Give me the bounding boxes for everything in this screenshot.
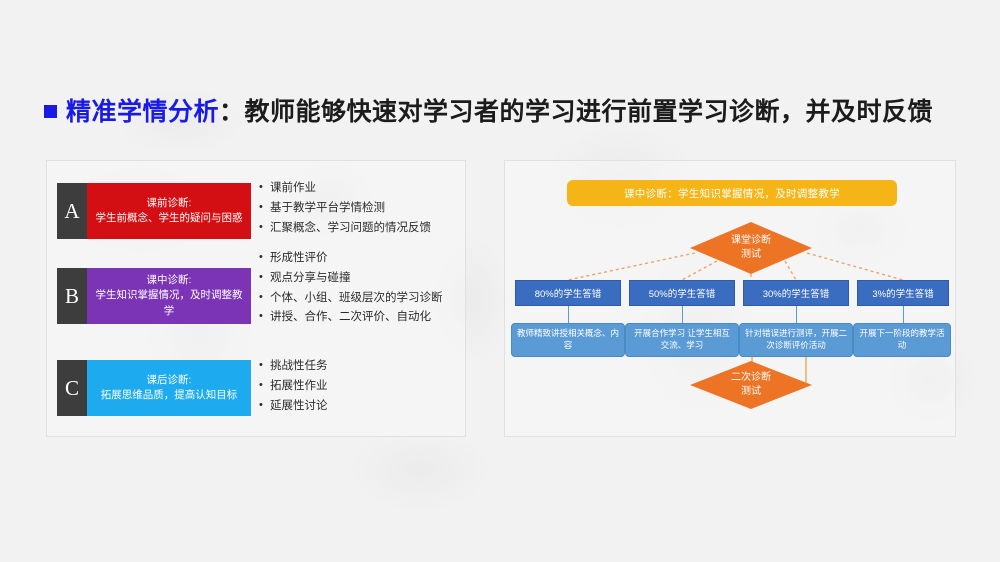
title-accent-text: 精准学情分析 (66, 98, 219, 126)
list-item: 讲授、合作、二次评价、自动化 (259, 308, 443, 328)
row-label-c: 课后诊断: 拓展思维品质，提高认知目标 (87, 360, 251, 416)
diamond-top-line2: 测试 (741, 248, 761, 262)
bullet-list-a: 课前作业 基于教学平台学情检测 汇聚概念、学习问题的情况反馈 (259, 179, 431, 238)
action-box-cooperative[interactable]: 开展合作学习 让学生相互交流、学习 (625, 323, 739, 357)
bullet-list-b: 形成性评价 观点分享与碰撞 个体、小组、班级层次的学习诊断 讲授、合作、二次评价… (259, 249, 443, 328)
row-letter-c: C (57, 360, 87, 416)
row-letter-b: B (57, 268, 87, 324)
list-item: 挑战性任务 (259, 357, 328, 377)
diamond-bottom-line2: 测试 (741, 385, 761, 399)
diagnosis-row-c[interactable]: C 课后诊断: 拓展思维品质，提高认知目标 (57, 360, 251, 416)
action-box-lecture[interactable]: 教师精致讲授相关概念、内容 (511, 323, 625, 357)
list-item: 观点分享与碰撞 (259, 269, 443, 289)
row-letter-a: A (57, 183, 87, 239)
connector-q1-a1 (682, 306, 683, 323)
title-rest-text: ：教师能够快速对学习者的学习进行前置学习诊断，并及时反馈 (219, 98, 933, 126)
list-item: 个体、小组、班级层次的学习诊断 (259, 289, 443, 309)
list-item: 汇聚概念、学习问题的情况反馈 (259, 219, 431, 239)
list-item: 拓展性作业 (259, 377, 328, 397)
left-panel: A 课前诊断: 学生前概念、学生的疑问与困惑 B 课中诊断: 学生知识掌握情况，… (46, 160, 466, 437)
row-label-a-line1: 课前诊断: (147, 196, 192, 211)
list-item: 课前作业 (259, 179, 431, 199)
list-item: 延展性讨论 (259, 397, 328, 417)
connector-q2-a2 (796, 306, 797, 323)
diagnosis-row-b[interactable]: B 课中诊断: 学生知识掌握情况，及时调整教学 (57, 268, 251, 324)
action-box-reassess[interactable]: 针对错误进行测评，开展二次诊断评价活动 (739, 323, 853, 357)
row-label-c-line1: 课后诊断: (147, 373, 192, 388)
diamond-bottom-line1: 二次诊断 (731, 371, 771, 385)
list-item: 基于教学平台学情检测 (259, 199, 431, 219)
diamond-classroom-diagnosis[interactable]: 课堂诊断 测试 (690, 222, 812, 274)
row-label-b: 课中诊断: 学生知识掌握情况，及时调整教学 (87, 268, 251, 324)
slide-title: 精准学情分析：教师能够快速对学习者的学习进行前置学习诊断，并及时反馈 (44, 92, 933, 128)
diamond-top-line1: 课堂诊断 (731, 234, 771, 248)
row-label-c-line2: 拓展思维品质，提高认知目标 (101, 388, 238, 403)
list-item: 形成性评价 (259, 249, 443, 269)
row-label-b-line1: 课中诊断: (147, 273, 192, 288)
row-label-b-line2: 学生知识掌握情况，及时调整教学 (93, 288, 245, 318)
connector-q0-a0 (568, 306, 569, 323)
flow-banner: 课中诊断：学生知识掌握情况，及时调整教学 (567, 180, 897, 206)
row-label-a: 课前诊断: 学生前概念、学生的疑问与困惑 (87, 183, 251, 239)
diamond-second-diagnosis[interactable]: 二次诊断 测试 (690, 361, 812, 409)
title-bullet-square (44, 105, 57, 118)
question-box-80[interactable]: 80%的学生答错 (515, 280, 621, 306)
diagnosis-row-a[interactable]: A 课前诊断: 学生前概念、学生的疑问与困惑 (57, 183, 251, 239)
connector-q3-a3 (903, 306, 904, 323)
question-box-50[interactable]: 50%的学生答错 (629, 280, 735, 306)
bullet-list-c: 挑战性任务 拓展性作业 延展性讨论 (259, 357, 328, 416)
right-panel: 课中诊断：学生知识掌握情况，及时调整教学 课堂诊断 测试 80%的学生答错 50… (504, 160, 956, 437)
question-box-3[interactable]: 3%的学生答错 (857, 280, 949, 306)
row-label-a-line2: 学生前概念、学生的疑问与困惑 (96, 211, 243, 226)
action-box-next-stage[interactable]: 开展下一阶段的教学活动 (853, 323, 951, 357)
question-box-30[interactable]: 30%的学生答错 (743, 280, 849, 306)
